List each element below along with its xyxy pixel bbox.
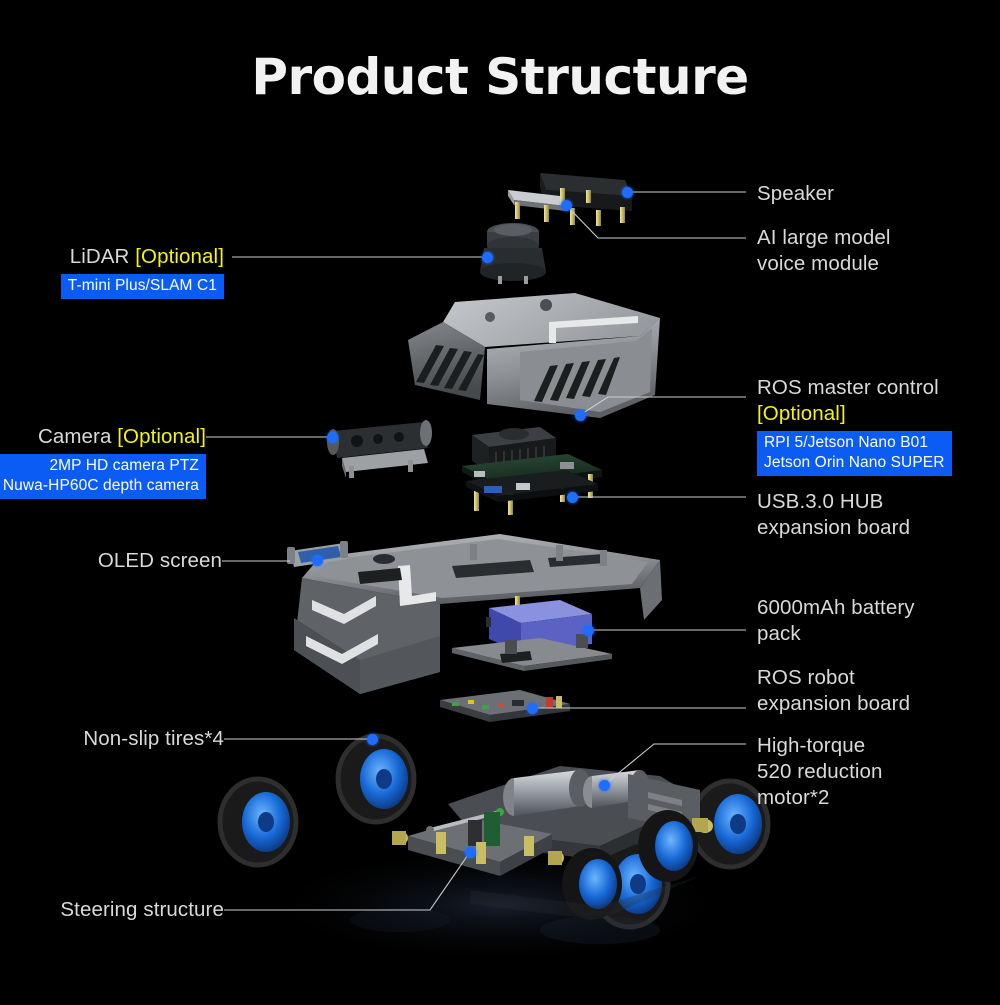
badge-line-1: T-mini Plus/SLAM C1 <box>68 276 217 296</box>
callout-lidar-badge: T-mini Plus/SLAM C1 <box>61 274 224 299</box>
callout-lidar-label: LiDAR <box>70 245 130 268</box>
tire-graphic-front-left <box>220 779 296 865</box>
marker-battery <box>583 625 594 636</box>
callout-tires: Non-slip tires*4 <box>0 726 224 752</box>
marker-ros-expansion <box>527 703 538 714</box>
marker-usb-hub <box>567 492 578 503</box>
callout-usb-hub-line1: USB.3.0 HUB <box>757 489 910 515</box>
product-structure-diagram: Product Structure <box>0 0 1000 1000</box>
callout-motor-line1: High-torque <box>757 733 883 759</box>
callout-ros-master-badge: RPI 5/Jetson Nano B01 Jetson Orin Nano S… <box>757 431 952 476</box>
callout-voice-module-line1: AI large model <box>757 225 891 251</box>
callout-lidar-optional: [Optional] <box>135 245 224 268</box>
marker-ros-master <box>575 410 586 421</box>
badge-line-2: Nuwa-HP60C depth camera <box>3 476 199 496</box>
callout-battery-line1: 6000mAh battery <box>757 595 915 621</box>
callout-battery: 6000mAh battery pack <box>757 595 915 647</box>
badge-line-1: RPI 5/Jetson Nano B01 <box>764 433 945 453</box>
marker-oled <box>312 555 323 566</box>
callout-ros-expansion: ROS robot expansion board <box>757 665 910 717</box>
ros-master-control-graphic <box>462 427 602 515</box>
callout-motor: High-torque 520 reduction motor*2 <box>757 733 883 811</box>
callout-oled-label: OLED screen <box>98 549 222 572</box>
marker-steering <box>465 847 476 858</box>
callout-motor-line2: 520 reduction <box>757 759 883 785</box>
callout-usb-hub: USB.3.0 HUB expansion board <box>757 489 910 541</box>
speaker-board-graphic <box>508 173 632 226</box>
badge-line-1: 2MP HD camera PTZ <box>3 456 199 476</box>
marker-motor <box>599 780 610 791</box>
callout-camera-optional: [Optional] <box>117 425 206 448</box>
callout-battery-line2: pack <box>757 621 915 647</box>
callout-steering-label: Steering structure <box>60 898 224 921</box>
callout-camera-badge: 2MP HD camera PTZ Nuwa-HP60C depth camer… <box>0 454 206 499</box>
marker-lidar <box>482 252 493 263</box>
callout-ros-master: ROS master control [Optional] RPI 5/Jets… <box>757 375 952 476</box>
callout-speaker-label: Speaker <box>757 182 834 205</box>
callout-camera-label: Camera <box>38 425 112 448</box>
callout-ros-expansion-line1: ROS robot <box>757 665 910 691</box>
depth-camera-graphic <box>327 420 432 478</box>
callout-voice-module: AI large model voice module <box>757 225 891 277</box>
callout-camera: Camera [Optional] 2MP HD camera PTZ Nuwa… <box>0 424 206 499</box>
callout-voice-module-line2: voice module <box>757 251 891 277</box>
callout-lidar: LiDAR [Optional] T-mini Plus/SLAM C1 <box>0 244 224 299</box>
callout-ros-master-optional: [Optional] <box>757 401 846 427</box>
upper-shell-graphic <box>408 293 660 418</box>
callout-tires-label: Non-slip tires*4 <box>83 727 224 750</box>
marker-speaker <box>622 187 633 198</box>
callout-ros-expansion-line2: expansion board <box>757 691 910 717</box>
callout-oled: OLED screen <box>0 548 222 574</box>
callout-steering: Steering structure <box>0 897 224 923</box>
marker-camera <box>327 432 338 443</box>
middle-chassis-graphic <box>287 534 662 694</box>
callout-ros-master-label: ROS master control <box>757 375 939 401</box>
badge-line-2: Jetson Orin Nano SUPER <box>764 453 945 473</box>
marker-voice-module <box>561 200 572 211</box>
callout-usb-hub-line2: expansion board <box>757 515 910 541</box>
tire-graphic-front-right <box>338 736 414 822</box>
marker-tires <box>367 734 378 745</box>
callout-motor-line3: motor*2 <box>757 785 883 811</box>
ros-expansion-board-graphic <box>440 690 570 722</box>
callout-speaker: Speaker <box>757 181 834 207</box>
